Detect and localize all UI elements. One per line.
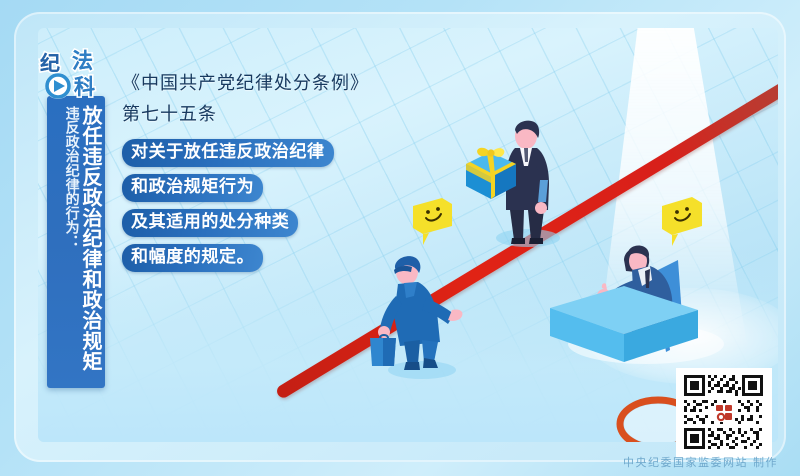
smiley-bubble-right — [658, 194, 706, 250]
highlight-row: 和幅度的规定。 — [122, 244, 452, 279]
svg-text:纪: 纪 — [40, 51, 60, 75]
poster-root: 纪 纪 法 法 科 科 放任违反政治纪律和政治规矩 违反政治纪律的行为： 《中国… — [0, 0, 800, 476]
svg-text:法: 法 — [72, 49, 93, 73]
highlight-line-4: 和幅度的规定。 — [122, 244, 263, 272]
gift-box — [462, 144, 520, 204]
highlight-line-1: 对关于放任违反政治纪律 — [122, 139, 334, 167]
article-number: 第七十五条 — [122, 101, 452, 130]
regulation-title: 《中国共产党纪律处分条例》 — [122, 70, 452, 99]
banner-sub-text: 违反政治纪律的行为： — [64, 105, 79, 382]
credit-text: 中央纪委国家监委网站 制作 — [623, 454, 778, 470]
highlight-list: 对关于放任违反政治纪律 和政治规矩行为 及其适用的处分种类 和幅度的规定。 — [122, 139, 452, 279]
highlight-row: 及其适用的处分种类 — [122, 209, 452, 244]
qr-code[interactable] — [676, 368, 772, 458]
highlight-line-3: 及其适用的处分种类 — [122, 209, 298, 237]
main-text-block: 《中国共产党纪律处分条例》 第七十五条 对关于放任违反政治纪律 和政治规矩行为 … — [122, 70, 452, 279]
highlight-line-2: 和政治规矩行为 — [122, 174, 263, 202]
highlight-row: 和政治规矩行为 — [122, 174, 452, 209]
brand-logo: 纪 纪 法 法 科 科 — [38, 46, 114, 104]
svg-text:科: 科 — [74, 75, 95, 99]
vertical-banner: 放任违反政治纪律和政治规矩 违反政治纪律的行为： — [47, 96, 105, 388]
banner-main-text: 放任违反政治纪律和政治规矩 — [81, 105, 101, 382]
highlight-row: 对关于放任违反政治纪律 — [122, 139, 452, 174]
